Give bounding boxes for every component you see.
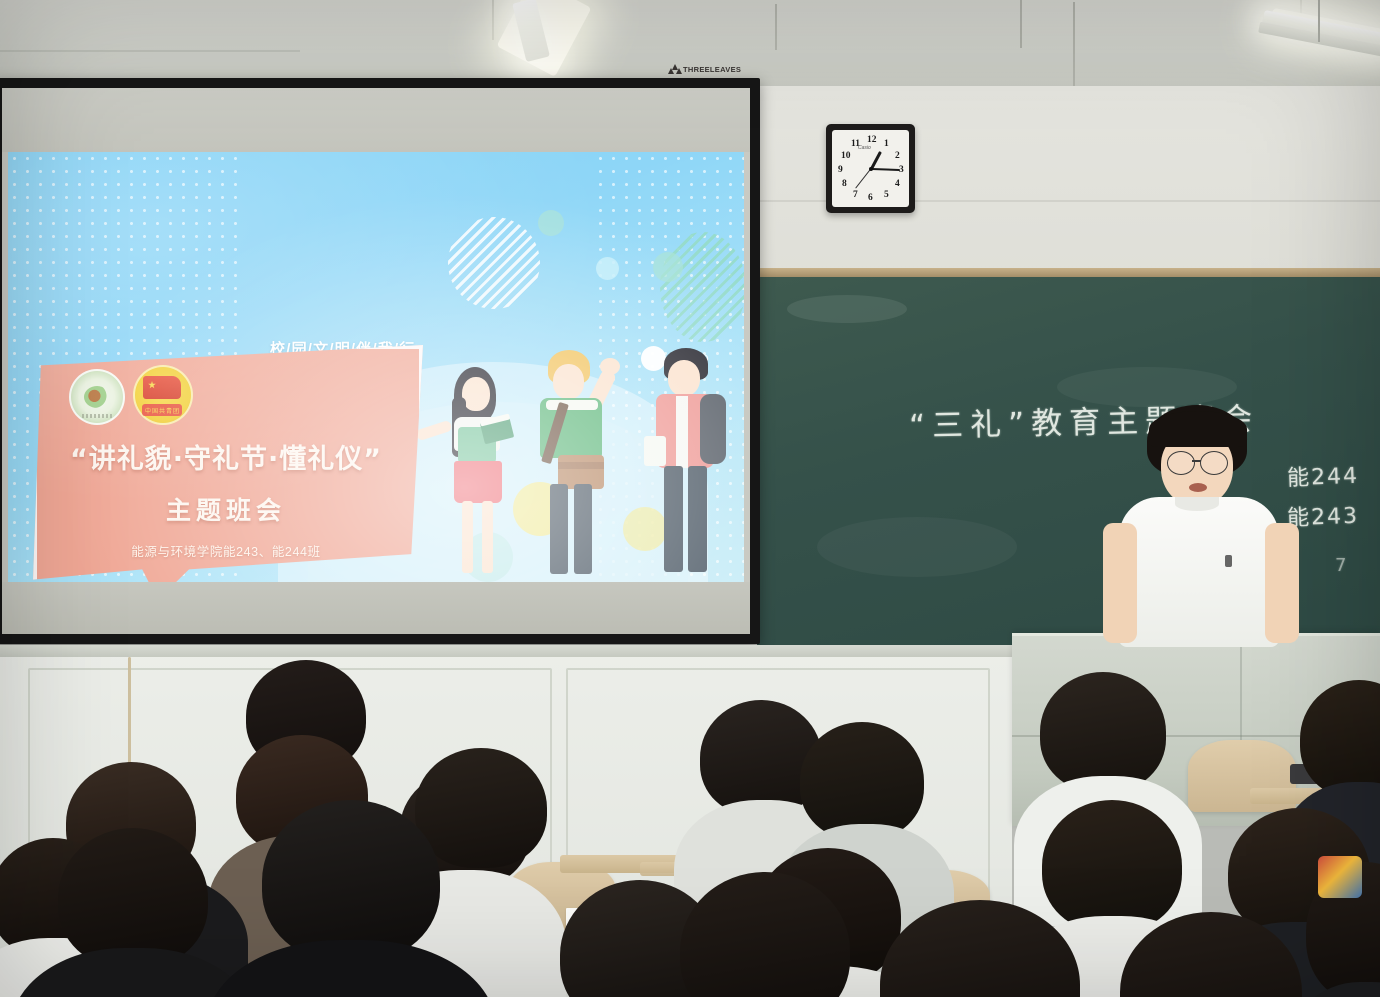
glasses-right-lens-icon <box>1200 451 1228 475</box>
head <box>415 748 547 868</box>
leg <box>664 466 683 572</box>
chalk-smudge <box>787 295 907 323</box>
leg <box>462 501 473 573</box>
star-icon <box>148 381 156 389</box>
clock-number-7: 7 <box>853 190 858 200</box>
light-hanger <box>1318 0 1320 42</box>
leg <box>688 466 707 572</box>
ceiling-panel-seam <box>1020 0 1022 48</box>
wall-rail <box>0 645 1012 657</box>
bag-flap <box>558 462 604 469</box>
collar <box>546 400 598 410</box>
slide-illustration-student-girl <box>438 367 528 582</box>
head <box>668 360 700 396</box>
bag-patch <box>1318 856 1362 898</box>
screen-bottom-band <box>2 582 750 634</box>
clock-minute-hand <box>870 168 899 171</box>
clock-number-5: 5 <box>884 190 889 200</box>
mitsubishi-logo-icon <box>668 64 679 74</box>
collar <box>1175 497 1219 511</box>
clock-number-4: 4 <box>895 179 900 189</box>
communist-youth-league-emblem-icon: 中国共青团 <box>133 365 193 425</box>
cable-hanger <box>775 4 777 50</box>
emblem-text-mark <box>82 414 112 418</box>
clock-number-8: 8 <box>842 179 847 189</box>
wall-clock: Casio 12 1 2 3 4 5 6 7 8 9 10 11 <box>826 124 915 213</box>
clock-second-hand <box>855 168 871 188</box>
backpack <box>700 394 726 464</box>
skirt <box>454 461 502 503</box>
ceiling-seam <box>0 50 300 52</box>
flag-icon <box>143 376 181 399</box>
clock-number-1: 1 <box>884 139 889 149</box>
emblem-ribbon: 中国共青团 <box>142 404 182 416</box>
head <box>58 828 208 968</box>
clock-number-2: 2 <box>895 151 900 161</box>
screen-top-band <box>2 88 750 152</box>
leg <box>574 484 592 574</box>
slide-subtitle: 主题班会 <box>51 491 401 527</box>
classroom-photo: THREELEAVES Casio 12 1 2 3 4 5 6 7 8 9 1… <box>0 0 1380 997</box>
clock-face: Casio 12 1 2 3 4 5 6 7 8 9 10 11 <box>832 130 909 207</box>
head <box>1042 800 1182 932</box>
fringe <box>1149 411 1247 447</box>
head <box>1040 672 1166 792</box>
slide-meta: 能源与环境学院能243、能244班 <box>43 541 409 560</box>
jacket-inner <box>676 396 688 468</box>
slide-dot <box>538 210 564 236</box>
clock-number-10: 10 <box>841 151 851 161</box>
slide-dot <box>653 252 683 282</box>
shirt-logo <box>1225 555 1232 567</box>
slide-title-bubble: 中国共青团 “讲礼貌·守礼节·懂礼仪” 主题班会 能源与环境学院能243、能24… <box>33 345 423 582</box>
hand <box>600 358 620 375</box>
ceiling-panel-seam <box>492 0 494 40</box>
projector-brand-label: THREELEAVES <box>668 64 741 74</box>
held-item <box>644 436 666 466</box>
arm <box>1265 523 1299 643</box>
slide-dot <box>596 257 619 280</box>
projection-screen: 校/园/文/明/伴/我/行 LOGO <box>0 78 760 644</box>
projection-screen-surface: 校/园/文/明/伴/我/行 LOGO <box>2 88 750 634</box>
slide-striped-circle <box>660 232 744 342</box>
emblem-swirl <box>84 386 110 408</box>
head <box>800 722 924 840</box>
slide-illustration-student-backpack <box>648 348 744 582</box>
chalk-smudge <box>817 517 1017 577</box>
slide-title: “讲礼貌·守礼节·懂礼仪” <box>51 437 401 476</box>
head <box>262 800 440 962</box>
projector-brand-text: THREELEAVES <box>683 65 741 74</box>
mouth <box>1189 483 1207 492</box>
t-shirt <box>1119 497 1279 647</box>
clock-pivot <box>869 167 873 171</box>
clock-number-6: 6 <box>868 193 873 203</box>
glasses-left-lens-icon <box>1167 451 1195 475</box>
head <box>462 377 490 411</box>
leg <box>482 501 493 573</box>
slide-illustration-student-waving <box>528 350 638 582</box>
slide-striped-circle <box>448 217 540 309</box>
arm <box>1103 523 1137 643</box>
presentation-slide: 校/园/文/明/伴/我/行 LOGO <box>8 152 744 582</box>
leg <box>550 484 568 574</box>
student-presenter <box>1085 405 1335 655</box>
clock-number-11: 11 <box>851 139 860 149</box>
school-emblem-icon <box>69 369 125 425</box>
hanging-cable <box>128 657 131 775</box>
blackboard-partial-mark: 7 <box>1335 555 1346 576</box>
glasses-bridge-icon <box>1192 460 1201 462</box>
head <box>553 364 584 399</box>
clock-number-9: 9 <box>838 165 843 175</box>
clock-number-12: 12 <box>867 135 877 145</box>
